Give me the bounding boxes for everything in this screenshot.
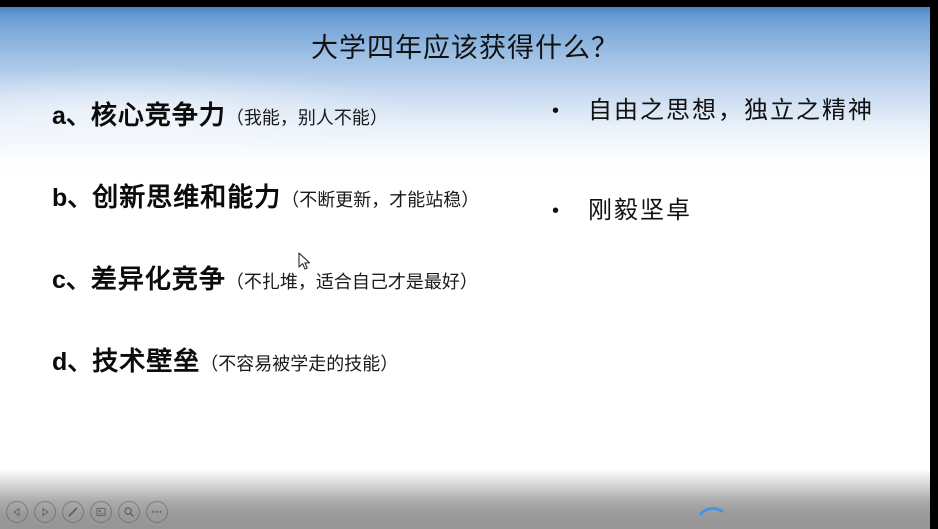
list-item-note: （不扎堆，适合自己才是最好） (226, 272, 478, 292)
zoom-tool-button[interactable] (118, 501, 140, 523)
slides-grid-icon (95, 506, 107, 518)
list-item-note: （不断更新，才能站稳） (281, 190, 479, 210)
list-item: a、核心竞争力（我能，别人不能） (52, 95, 522, 177)
list-item-text: 刚毅坚卓 (588, 195, 692, 227)
list-item-note: （不容易被学走的技能） (200, 354, 398, 374)
list-item-marker: c、 (52, 266, 91, 294)
pen-tool-button[interactable] (62, 501, 84, 523)
list-item: b、创新思维和能力（不断更新，才能站稳） (52, 177, 522, 259)
triangle-left-icon (12, 507, 22, 517)
loading-spinner-icon (693, 505, 734, 529)
list-item-text: 自由之思想，独立之精神 (588, 95, 874, 127)
list-item: • 自由之思想，独立之精神 (552, 95, 922, 195)
presentation-screen: 大学四年应该获得什么？ a、核心竞争力（我能，别人不能） b、创新思维和能力（不… (0, 0, 938, 529)
previous-slide-button[interactable] (6, 501, 28, 523)
bullet-icon: • (552, 195, 588, 227)
list-item: c、差异化竞争（不扎堆，适合自己才是最好） (52, 259, 522, 341)
list-item-marker: a、 (52, 102, 91, 130)
slide-canvas[interactable]: 大学四年应该获得什么？ a、核心竞争力（我能，别人不能） b、创新思维和能力（不… (0, 7, 930, 529)
presenter-toolbar: ••• (0, 469, 930, 529)
left-content-column: a、核心竞争力（我能，别人不能） b、创新思维和能力（不断更新，才能站稳） c、… (52, 95, 522, 423)
list-item-main-text: 技术壁垒 (92, 346, 200, 376)
next-slide-button[interactable] (34, 501, 56, 523)
magnifier-icon (123, 506, 135, 518)
list-item-main-text: 创新思维和能力 (92, 182, 281, 212)
list-item: d、技术壁垒（不容易被学走的技能） (52, 341, 522, 423)
list-item-main-text: 差异化竞争 (91, 264, 226, 294)
more-options-button[interactable]: ••• (146, 501, 168, 523)
list-item-note: （我能，别人不能） (226, 108, 388, 128)
bullet-icon: • (552, 95, 588, 127)
toolbar-button-group: ••• (6, 501, 168, 523)
pen-icon (66, 505, 80, 519)
slide-title: 大学四年应该获得什么？ (0, 31, 930, 65)
right-content-column: • 自由之思想，独立之精神 • 刚毅坚卓 (552, 95, 922, 295)
slide-menu-button[interactable] (90, 501, 112, 523)
ellipsis-icon: ••• (152, 508, 163, 517)
triangle-right-icon (40, 507, 50, 517)
list-item-marker: b、 (52, 184, 92, 212)
list-item: • 刚毅坚卓 (552, 195, 922, 295)
list-item-main-text: 核心竞争力 (91, 100, 226, 130)
list-item-marker: d、 (52, 348, 92, 376)
